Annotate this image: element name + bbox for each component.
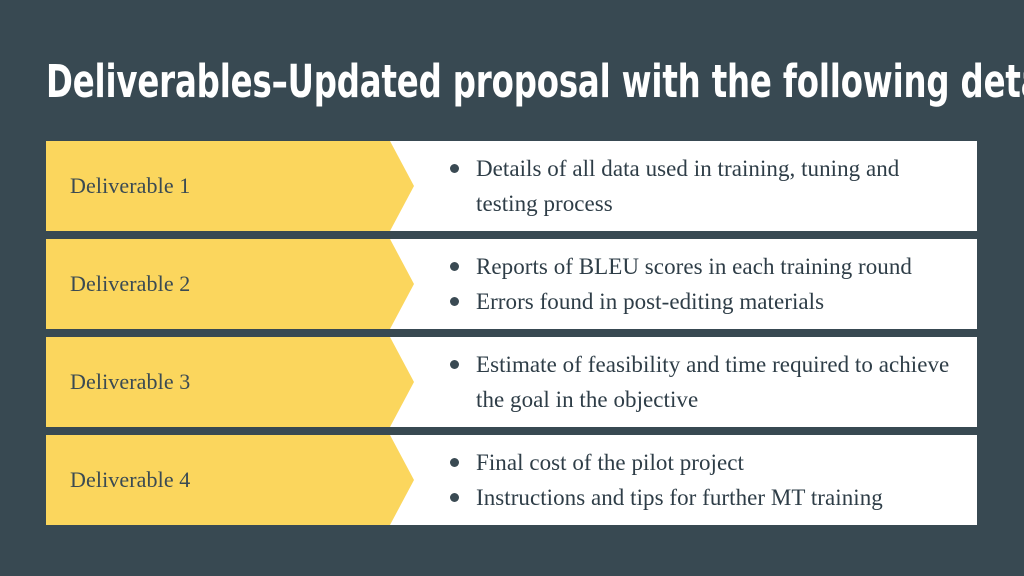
list-item: Instructions and tips for further MT tra… [390,480,961,515]
deliverable-row: Deliverable 1 Details of all data used i… [46,141,977,231]
list-item: Final cost of the pilot project [390,445,961,480]
page-title: Deliverables–Updated proposal with the f… [46,55,790,109]
deliverable-row: Deliverable 2 Reports of BLEU scores in … [46,239,977,329]
bullet-dot-icon [450,164,459,173]
deliverable-details-panel: Reports of BLEU scores in each training … [390,239,977,329]
deliverable-label-text: Deliverable 3 [70,368,190,396]
deliverable-details-panel: Final cost of the pilot project Instruct… [390,435,977,525]
deliverable-label-chip: Deliverable 2 [46,239,390,329]
list-item-text: Final cost of the pilot project [476,445,961,480]
list-item-text: Estimate of feasibility and time require… [476,347,961,417]
list-item-text: Reports of BLEU scores in each training … [476,249,961,284]
bullet-list: Reports of BLEU scores in each training … [390,249,961,319]
slide-canvas: Deliverables–Updated proposal with the f… [0,0,1024,576]
bullet-dot-icon [450,262,459,271]
bullet-list: Final cost of the pilot project Instruct… [390,445,961,515]
deliverable-details-panel: Estimate of feasibility and time require… [390,337,977,427]
bullet-dot-icon [450,493,459,502]
list-item: Details of all data used in training, tu… [390,151,961,221]
deliverable-label-text: Deliverable 2 [70,270,190,298]
deliverable-label-text: Deliverable 4 [70,466,190,494]
list-item-text: Instructions and tips for further MT tra… [476,480,961,515]
list-item-text: Errors found in post-editing materials [476,284,961,319]
bullet-dot-icon [450,458,459,467]
deliverable-label-chip: Deliverable 1 [46,141,390,231]
bullet-dot-icon [450,360,459,369]
list-item-text: Details of all data used in training, tu… [476,151,961,221]
bullet-dot-icon [450,297,459,306]
deliverable-row: Deliverable 3 Estimate of feasibility an… [46,337,977,427]
deliverable-label-chip: Deliverable 4 [46,435,390,525]
list-item: Reports of BLEU scores in each training … [390,249,961,284]
deliverable-label-chip: Deliverable 3 [46,337,390,427]
deliverables-list: Deliverable 1 Details of all data used i… [46,141,977,525]
deliverable-details-panel: Details of all data used in training, tu… [390,141,977,231]
deliverable-label-text: Deliverable 1 [70,172,190,200]
list-item: Estimate of feasibility and time require… [390,347,961,417]
bullet-list: Estimate of feasibility and time require… [390,347,961,417]
list-item: Errors found in post-editing materials [390,284,961,319]
bullet-list: Details of all data used in training, tu… [390,151,961,221]
deliverable-row: Deliverable 4 Final cost of the pilot pr… [46,435,977,525]
